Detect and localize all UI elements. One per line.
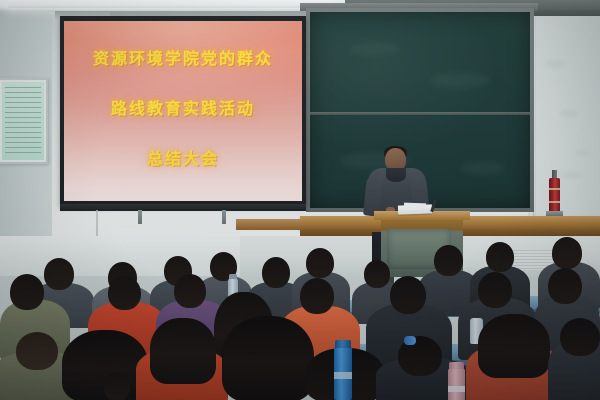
- thermos-cap: [449, 362, 464, 369]
- speaker-collar: [386, 168, 406, 182]
- slide-line-3: 总结大会: [147, 145, 219, 169]
- lecture-hall-photo: 资源环境学院党的群众 路线教育实践活动 总结大会: [0, 0, 600, 400]
- thermos-cap: [335, 340, 351, 348]
- attendee-head: [44, 258, 74, 290]
- thermos-band: [334, 372, 352, 379]
- extinguisher-band: [549, 201, 560, 203]
- attendee-head: [262, 257, 290, 288]
- attendee-ponytail: [104, 372, 130, 400]
- screen-mount-bracket: [138, 210, 142, 224]
- extinguisher-band: [549, 188, 560, 190]
- fluorescent-light-icon: [8, 0, 333, 8]
- wall-scuff: [560, 172, 582, 178]
- attendee-head: [364, 260, 390, 288]
- pink-thermos-icon: [448, 368, 465, 400]
- attendee-head: [108, 276, 141, 310]
- attendee-head-front: [560, 318, 600, 356]
- wall-scuff: [575, 150, 589, 156]
- attendee-head: [10, 274, 44, 310]
- stage-ledge-left: [236, 219, 302, 230]
- fire-extinguisher-icon: [549, 178, 560, 212]
- wall-scuff: [560, 110, 578, 117]
- wall-scuff: [545, 60, 565, 68]
- extinguisher-base: [546, 211, 563, 216]
- attendee-head: [300, 278, 334, 314]
- attendee-head: [306, 248, 334, 278]
- bottle-cap: [229, 274, 237, 279]
- attendee-long-hair-front: [222, 316, 314, 400]
- attendee-long-hair-front: [150, 318, 216, 384]
- projection-screen-surface: 资源环境学院党的群众 路线教育实践活动 总结大会: [64, 21, 302, 201]
- attendee-head: [548, 268, 582, 304]
- slide-line-1: 资源环境学院党的群众: [93, 45, 273, 69]
- chalkboard-rail: [310, 112, 530, 115]
- attendee-head-front: [16, 332, 58, 370]
- small-blue-item-icon: [404, 336, 416, 345]
- attendee-head: [478, 272, 512, 308]
- projection-screen: 资源环境学院党的群众 路线教育实践活动 总结大会: [60, 16, 306, 206]
- slide-line-2: 路线教育实践活动: [111, 95, 255, 119]
- thermos-band: [448, 386, 465, 392]
- framed-wall-notice: [0, 78, 48, 164]
- slide-text-block: 资源环境学院党的群众 路线教育实践活动 总结大会: [64, 21, 302, 201]
- attendee-head: [486, 242, 514, 272]
- attendee-long-hair-front: [478, 314, 550, 378]
- notice-content: [2, 82, 44, 160]
- attendee-head: [390, 276, 426, 314]
- right-wall-panel: [528, 0, 600, 250]
- attendee-head: [174, 274, 206, 308]
- attendee-head: [552, 237, 582, 269]
- screen-mount-bracket: [222, 210, 226, 224]
- podium-papers-secondary: [404, 203, 426, 209]
- attendee-head: [434, 245, 463, 276]
